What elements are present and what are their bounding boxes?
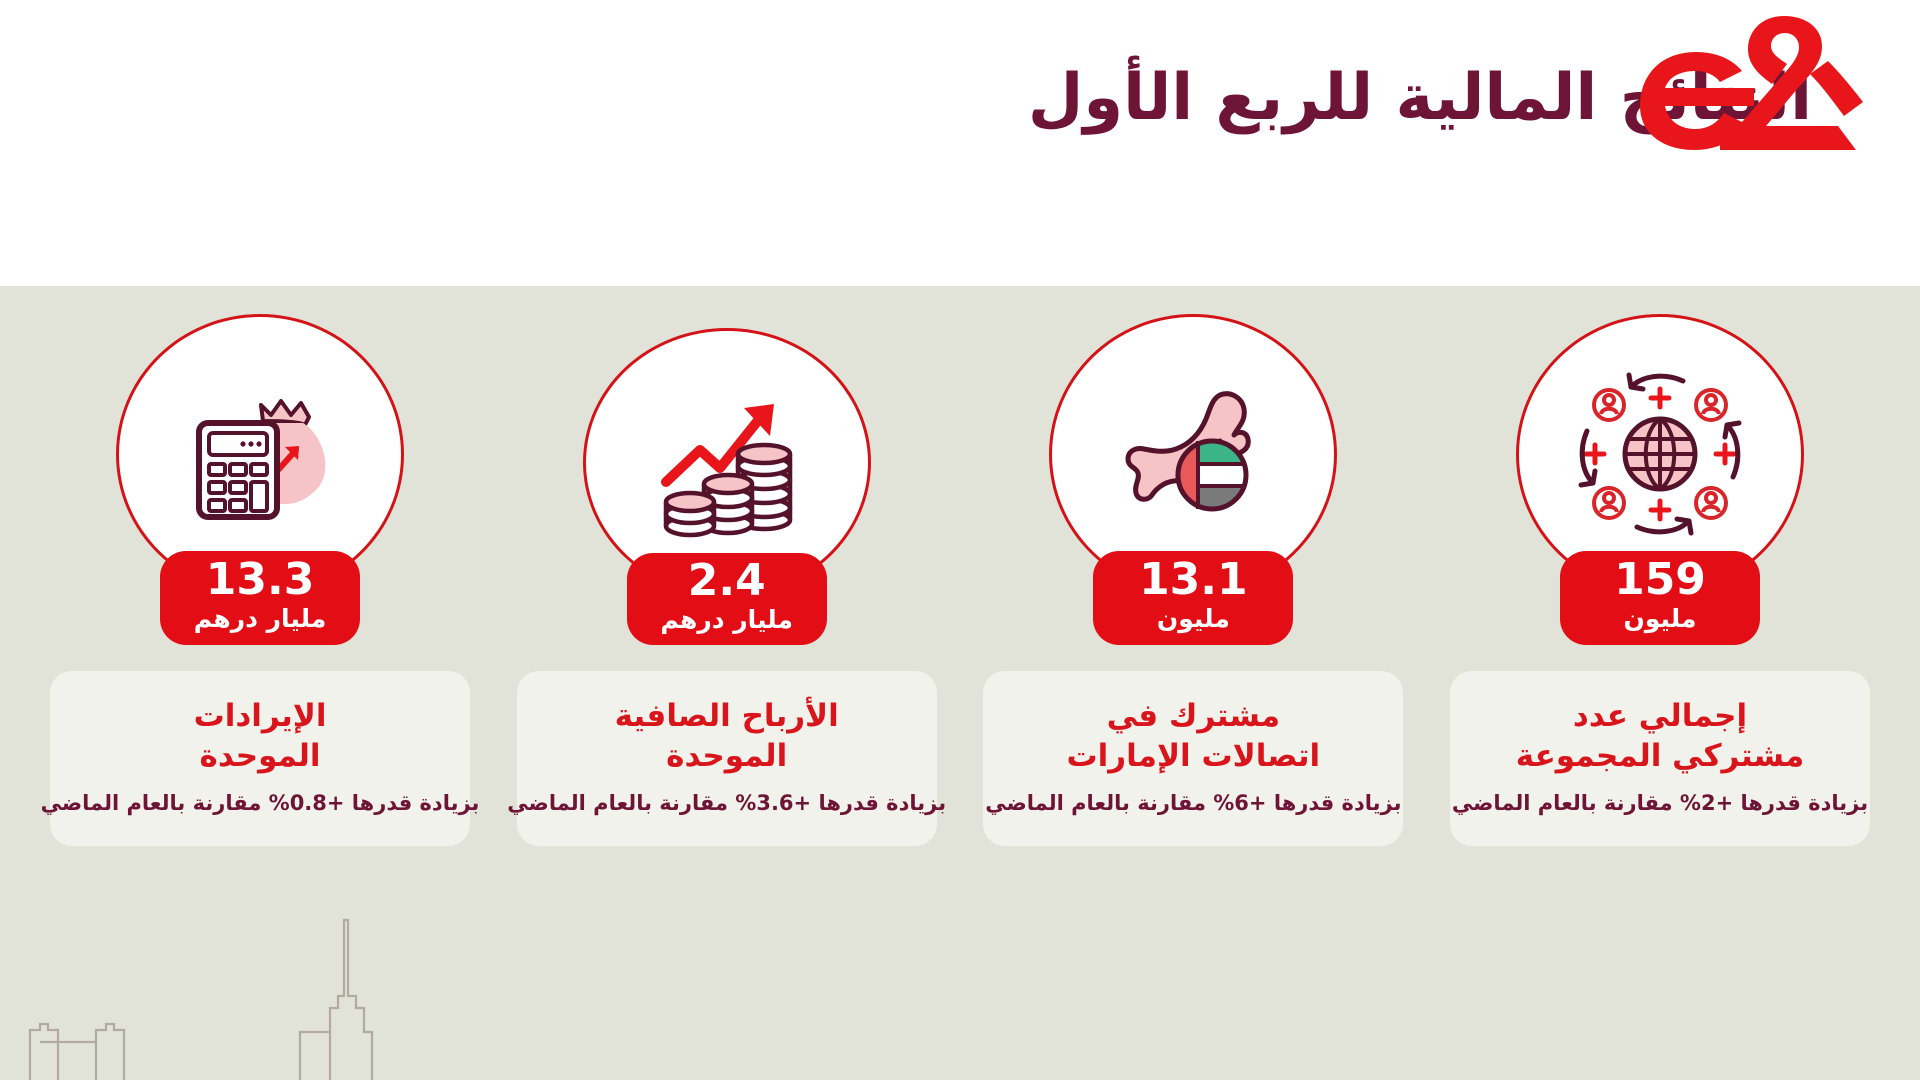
kpi-value: 13.1	[1139, 558, 1248, 602]
kpi-value-pill: 159 مليون	[1560, 551, 1760, 645]
page-header: النتائج المالية للربع الأول	[0, 0, 1920, 286]
kpi-panel: 13.3 مليار درهم الإيرادات الموحدة بزيادة…	[0, 286, 1920, 1080]
kpi-description-card: الأرباح الصافية الموحدة بزيادة قدرها +3.…	[517, 671, 937, 846]
kpi-description-card: الإيرادات الموحدة بزيادة قدرها +0.8% مقا…	[50, 671, 470, 846]
kpi-change: بزيادة قدرها +3.6% مقارنة بالعام الماضي	[507, 790, 946, 817]
kpi-value: 13.3	[206, 558, 315, 602]
coins-growth-arrow-icon	[642, 378, 812, 548]
kpi-title: الأرباح الصافية الموحدة	[615, 697, 839, 776]
kpi-card-group-subscribers: 159 مليون إجمالي عدد مشتركي المجموعة بزي…	[1450, 286, 1870, 846]
kpi-title-line-2: مشتركي المجموعة	[1516, 738, 1804, 774]
kpi-description-card: مشترك في اتصالات الإمارات بزيادة قدرها +…	[983, 671, 1403, 846]
e-and-logo	[1632, 14, 1864, 150]
kpi-unit: مليون	[1624, 604, 1697, 634]
kpi-grid: 13.3 مليار درهم الإيرادات الموحدة بزيادة…	[0, 286, 1920, 846]
kpi-title: إجمالي عدد مشتركي المجموعة	[1516, 697, 1804, 776]
kpi-title-line-2: الموحدة	[200, 738, 321, 774]
kpi-change: بزيادة قدرها +2% مقارنة بالعام الماضي	[1452, 790, 1868, 817]
kpi-title-line-1: إجمالي عدد	[1573, 698, 1747, 734]
kpi-title-line-2: اتصالات الإمارات	[1067, 738, 1321, 774]
kpi-title: مشترك في اتصالات الإمارات	[1067, 697, 1321, 776]
kpi-card-revenue: 13.3 مليار درهم الإيرادات الموحدة بزيادة…	[50, 286, 470, 846]
kpi-card-net-profit: 2.4 مليار درهم الأرباح الصافية الموحدة ب…	[517, 300, 937, 846]
kpi-title-line-1: الإيرادات	[194, 698, 327, 734]
kpi-description-card: إجمالي عدد مشتركي المجموعة بزيادة قدرها …	[1450, 671, 1870, 846]
kpi-value-pill: 2.4 مليار درهم	[627, 553, 827, 645]
calculator-money-bag-icon	[175, 369, 345, 539]
kpi-title-line-2: الموحدة	[666, 738, 787, 774]
kpi-value-pill: 13.1 مليون	[1093, 551, 1293, 645]
kpi-value-pill: 13.3 مليار درهم	[160, 551, 360, 645]
kpi-unit: مليون	[1157, 604, 1230, 634]
kpi-value: 159	[1614, 558, 1706, 602]
kpi-change: بزيادة قدرها +6% مقارنة بالعام الماضي	[985, 790, 1401, 817]
kpi-title-line-1: الأرباح الصافية	[615, 698, 839, 734]
global-subscribers-globe-icon	[1575, 369, 1745, 539]
infographic-page: النتائج المالية للربع الأول	[0, 0, 1920, 1080]
kpi-card-uae-subscribers: 13.1 مليون مشترك في اتصالات الإمارات بزي…	[983, 286, 1403, 846]
kpi-value: 2.4	[688, 559, 766, 603]
dubai-skyline-outline	[0, 910, 1920, 1080]
kpi-unit: مليار درهم	[194, 604, 327, 634]
kpi-title: الإيرادات الموحدة	[194, 697, 327, 776]
kpi-unit: مليار درهم	[660, 605, 793, 635]
kpi-change: بزيادة قدرها +0.8% مقارنة بالعام الماضي	[41, 790, 480, 817]
uae-map-flag-icon	[1108, 369, 1278, 539]
kpi-title-line-1: مشترك في	[1107, 698, 1281, 734]
